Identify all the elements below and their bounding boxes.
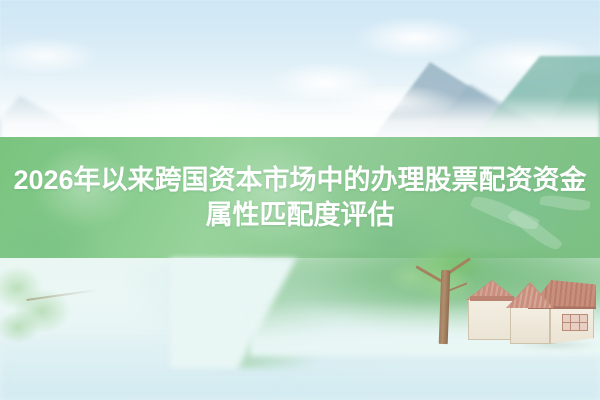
window-mullion-horizontal <box>562 322 588 323</box>
tree-branch <box>415 265 442 283</box>
left-foliage-cluster <box>0 258 92 353</box>
window-mullion-vertical <box>570 314 571 331</box>
title-line-2: 属性匹配度评估 <box>206 201 395 229</box>
title-line-1: 2026年以来跨国资本市场中的办理股票配资资金 <box>13 166 586 194</box>
house-front-wall <box>510 306 550 344</box>
tree-trunk <box>439 270 451 344</box>
cottage-house-illustration <box>466 272 594 352</box>
article-cover-banner: 2026年以来跨国资本市场中的办理股票配资资金 属性匹配度评估 <box>0 0 600 400</box>
window-mullion-vertical <box>579 314 580 331</box>
banner-title: 2026年以来跨国资本市场中的办理股票配资资金 属性匹配度评估 <box>0 137 600 258</box>
